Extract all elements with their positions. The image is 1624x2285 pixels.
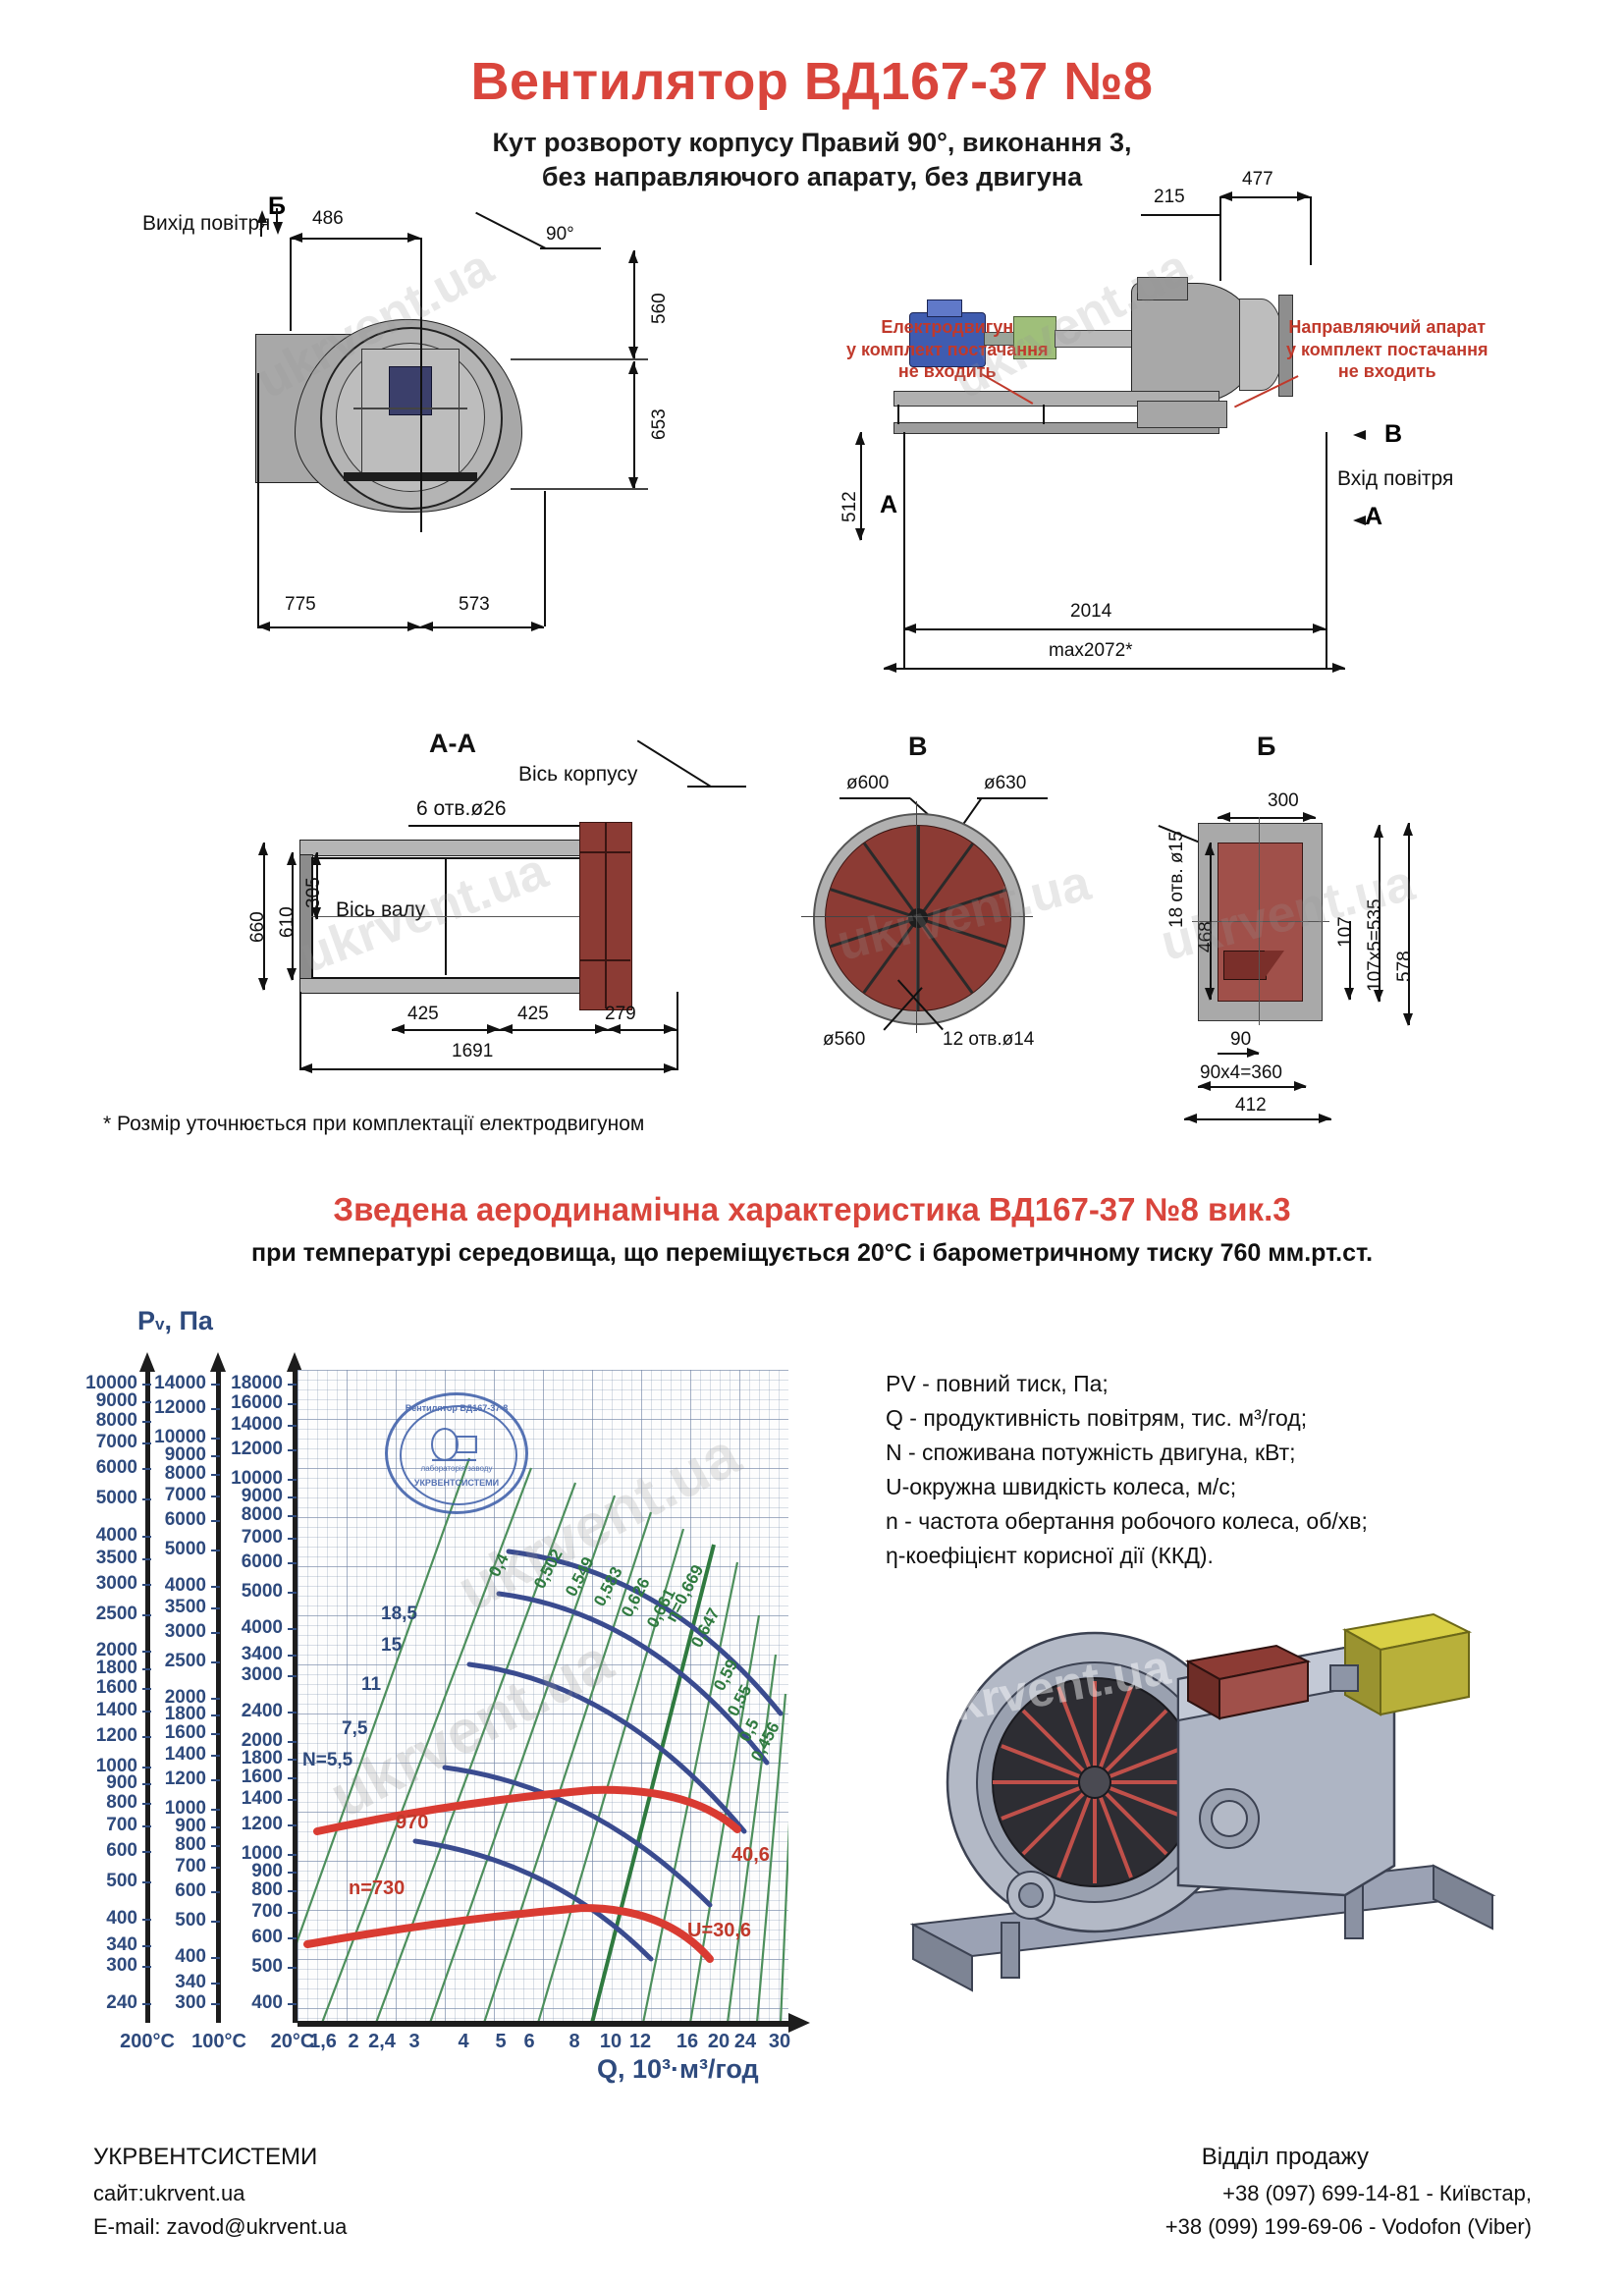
axis-tick-value: 4000 <box>59 1525 137 1547</box>
air-outlet-label: Вихід повітря <box>142 212 270 236</box>
axis-tick-mark <box>211 1698 220 1700</box>
view-name-v: В <box>908 732 928 762</box>
front-view <box>196 290 677 624</box>
stamp-line-2: лабораторія заводу <box>388 1464 525 1473</box>
guide-note-line-3: не входить <box>1286 360 1489 383</box>
dim-486-line <box>290 238 420 240</box>
axis-tick-value: 700 <box>204 1901 283 1923</box>
rpm-label-730: n=730 <box>349 1877 405 1900</box>
shaft-axis-label: Вісь валу <box>336 898 425 922</box>
axis-tick-value: 1400 <box>128 1744 206 1766</box>
motor-not-included-note: Електродвигун у комплект постачання не в… <box>846 316 1049 383</box>
axis-tick-mark <box>288 1777 297 1779</box>
axis-tick-value: 600 <box>59 1840 137 1862</box>
axis-tick-value: 7000 <box>59 1432 137 1453</box>
body-axis-label: Вісь корпусу <box>518 763 637 787</box>
axis-tick-value: 12000 <box>204 1439 283 1460</box>
view-name-aa: А-А <box>429 729 476 759</box>
view-name-b: Б <box>1257 732 1275 762</box>
footer-company: УКРВЕНТСИСТЕМИ <box>93 2141 317 2175</box>
axis-tick-value: 4000 <box>204 1617 283 1639</box>
axis-tick-value: 300 <box>128 1992 206 2014</box>
axis-tick-mark <box>288 1872 297 1874</box>
axis-tick-value: 5000 <box>204 1581 283 1603</box>
axis-tick-value: 9000 <box>59 1390 137 1412</box>
xtick-30: 30 <box>766 2031 793 2053</box>
axis-tick-value: 1600 <box>128 1722 206 1744</box>
dim-300: 300 <box>1268 790 1299 812</box>
fan-3d-svg <box>884 1571 1512 2013</box>
impeller-centerline-h <box>801 916 1033 917</box>
side-view <box>874 265 1365 589</box>
chart-x-axis <box>298 2021 788 2027</box>
axis-tick-value: 8000 <box>128 1463 206 1485</box>
legend-item: Q - продуктивність повітрям, тис. м³/год… <box>886 1401 1368 1436</box>
axis-tick-mark <box>288 1655 297 1657</box>
axis-tick-value: 8000 <box>204 1504 283 1526</box>
dim-360: 90х4=360 <box>1200 1062 1282 1084</box>
axis-ticks-20c: 1800016000140001200010000900080007000600… <box>220 1370 289 2023</box>
rpm-label-970: 970 <box>396 1812 428 1834</box>
dim-1691: 1691 <box>452 1041 493 1062</box>
axis-tick-value: 16000 <box>204 1392 283 1414</box>
xtick-3: 3 <box>403 2031 426 2053</box>
axis-tick-mark <box>288 1449 297 1451</box>
axis-tick-mark <box>288 1496 297 1498</box>
dim-d600: ø600 <box>846 773 889 794</box>
legend-item: N - споживана потужність двигуна, кВт; <box>886 1436 1368 1470</box>
axis-tick-value: 1600 <box>59 1677 137 1699</box>
chart-y-axis-label: Pv, Па <box>137 1306 213 1336</box>
dim-775-arrow-l <box>257 622 270 631</box>
impeller-hub <box>908 908 928 928</box>
axis-tick-mark <box>288 1824 297 1826</box>
chart-subtitle: при температурі середовища, що переміщує… <box>0 1239 1624 1268</box>
axis-tick-value: 5000 <box>59 1488 137 1509</box>
axis-tick-value: 2500 <box>59 1604 137 1625</box>
section-mark-v-side: В <box>1384 420 1402 449</box>
impeller-blade <box>830 889 918 919</box>
axis-arrow-20c <box>287 1352 302 1372</box>
xtick-1-6: 1,6 <box>306 2031 340 2053</box>
holes-26-label: 6 отв.ø26 <box>416 797 507 821</box>
axis-tick-mark <box>211 1607 220 1609</box>
chart-title: Зведена аеродинамічна характеристика ВД1… <box>0 1191 1624 1228</box>
axis-tick-value: 3400 <box>204 1644 283 1665</box>
impeller-blade <box>917 826 920 918</box>
xtick-4: 4 <box>452 2031 475 2053</box>
dim-2014: 2014 <box>1070 601 1111 623</box>
dim-425-a: 425 <box>407 1004 439 1025</box>
stamp-line-3: УКРВЕНТСИСТЕМИ <box>388 1478 525 1488</box>
aa-bottom-flange <box>299 977 586 994</box>
axis-tick-mark <box>288 1890 297 1892</box>
xtick-10: 10 <box>597 2031 624 2053</box>
axis-tick-value: 400 <box>128 1946 206 1968</box>
footer-sales-title: Відділ продажу <box>1202 2141 1369 2175</box>
dim-412: 412 <box>1235 1095 1267 1116</box>
axis-tick-value: 340 <box>59 1934 137 1956</box>
air-inlet-label: Вхід повітря <box>1337 467 1453 491</box>
dim-90deg: 90° <box>546 224 574 245</box>
axis-tick-mark <box>288 1912 297 1914</box>
xtick-16: 16 <box>674 2031 701 2053</box>
section-v-arrow <box>1353 430 1366 440</box>
subtitle-line-1: Кут розвороту корпусу Правий 90°, викона… <box>0 126 1624 160</box>
axis-tick-value: 12000 <box>128 1397 206 1419</box>
legend-item: η-коефіцієнт корисної дії (ККД). <box>886 1539 1368 1573</box>
tip-speed-label-40-6: 40,6 <box>731 1844 770 1867</box>
tip-speed-label-30-6: U=30,6 <box>687 1920 751 1942</box>
dim-660: 660 <box>247 911 269 943</box>
dim-486-arrow-right <box>407 233 420 243</box>
dim-468: 468 <box>1196 921 1218 952</box>
legend-item: n - частота обертання робочого колеса, о… <box>886 1504 1368 1539</box>
b-vane-taper <box>1265 951 1284 978</box>
axis-tick-value: 3000 <box>128 1621 206 1643</box>
axis-ticks-100c: 1400012000100009000800070006000500040003… <box>147 1370 212 2023</box>
motor-terminal-box <box>927 299 962 317</box>
dim-486-arrow-left <box>290 233 302 243</box>
subtitle-line-2: без направляючого апарату, без двигуна <box>0 160 1624 194</box>
axis-tick-value: 800 <box>204 1879 283 1901</box>
side-outlet-duct <box>1137 277 1188 300</box>
axis-tick-value: 1200 <box>204 1814 283 1835</box>
dim-573-arrow-r <box>531 622 544 631</box>
axis-arrow-100c <box>210 1352 226 1372</box>
impeller-disc <box>825 825 1011 1011</box>
pedestal <box>1137 401 1227 428</box>
axis-tick-value: 3000 <box>204 1664 283 1686</box>
axis-tick-mark <box>288 2003 297 2005</box>
dim-d630: ø630 <box>984 773 1026 794</box>
axis-tick-mark <box>288 1384 297 1386</box>
n-label-11: 11 <box>361 1674 381 1696</box>
axis-tick-mark <box>288 1967 297 1969</box>
n-label-7-5: 7,5 <box>342 1718 367 1740</box>
impeller-blade <box>918 889 1006 919</box>
xtick-5: 5 <box>489 2031 513 2053</box>
dim-486-ext-r <box>420 238 422 532</box>
axis-tick-mark <box>288 1712 297 1714</box>
axis-tick-value: 6000 <box>204 1551 283 1573</box>
dim-560-arrow-up <box>628 250 638 263</box>
axis-tick-value: 1200 <box>59 1725 137 1747</box>
impeller-blade <box>863 917 919 994</box>
chart-x-axis-arrow <box>788 2013 810 2033</box>
axis-tick-value: 1800 <box>59 1658 137 1679</box>
n-label-15: 15 <box>381 1635 402 1657</box>
footer-phone-2: +38 (099) 199-69-06 - Vodofon (Viber) <box>1165 2211 1532 2243</box>
dim-573: 573 <box>459 594 490 616</box>
axis-tick-mark <box>288 1854 297 1856</box>
xtick-20: 20 <box>705 2031 732 2053</box>
guide-vane-not-included-note: Направляючий апарат у комплект постачанн… <box>1286 316 1489 383</box>
dim-573-arrow-l <box>420 622 433 631</box>
axis-tick-value: 3000 <box>59 1573 137 1595</box>
dim-215: 215 <box>1154 187 1185 208</box>
axis-tick-value: 1400 <box>204 1788 283 1810</box>
fan-base-plate <box>344 472 477 481</box>
dim-610: 610 <box>277 906 298 938</box>
dim-578: 578 <box>1394 951 1416 982</box>
axis-tick-value: 340 <box>128 1972 206 1993</box>
impeller-blade <box>918 917 1006 948</box>
quality-stamp: Вентилятор ВД167-37-8 лабораторія заводу… <box>385 1392 528 1514</box>
impeller-blade <box>917 917 973 994</box>
axis-tick-value: 800 <box>59 1792 137 1814</box>
axis-tick-value: 400 <box>59 1908 137 1930</box>
axis-tick-value: 700 <box>128 1856 206 1877</box>
axis-tick-value: 1200 <box>128 1768 206 1790</box>
axis-tick-value: 8000 <box>59 1410 137 1432</box>
section-b-arrow-down <box>273 222 283 235</box>
axis-tick-value: 600 <box>204 1927 283 1948</box>
axis-tick-value: 14000 <box>128 1373 206 1394</box>
motor-note-line-1: Електродвигун <box>846 316 1049 339</box>
n-label-5-5: N=5,5 <box>302 1750 352 1771</box>
axis-tick-mark <box>288 1628 297 1630</box>
dim-max2072: max2072* <box>1049 640 1133 662</box>
dim-477: 477 <box>1242 169 1273 190</box>
footer-site: сайт:ukrvent.ua <box>93 2178 244 2209</box>
dim-486: 486 <box>312 208 344 230</box>
dim-486-ext-l <box>290 238 292 331</box>
axis-tick-mark <box>288 1562 297 1564</box>
dim-653-arrow-up <box>628 361 638 374</box>
page-subtitle: Кут розвороту корпусу Правий 90°, викона… <box>0 126 1624 194</box>
dim-107: 107 <box>1335 916 1357 948</box>
section-mark-a-bottom: A <box>1365 503 1382 531</box>
axis-tick-value: 7000 <box>204 1527 283 1549</box>
guide-note-line-2: у комплект постачання <box>1286 339 1489 361</box>
xtick-2: 2 <box>342 2031 365 2053</box>
dim-560: 560 <box>649 293 671 324</box>
axis-tick-value: 900 <box>59 1772 137 1794</box>
axis-tick-mark <box>288 1741 297 1743</box>
axis-tick-mark <box>288 1759 297 1761</box>
axis-tick-value: 300 <box>59 1955 137 1977</box>
axis-tick-mark <box>288 1538 297 1540</box>
axis-tick-value: 3500 <box>59 1548 137 1569</box>
axis-tick-value: 1400 <box>59 1700 137 1721</box>
motor-note-line-3: не входить <box>846 360 1049 383</box>
impeller-blade <box>917 918 920 1010</box>
footer-phone-1: +38 (097) 699-14-81 - Київстар, <box>1222 2178 1532 2209</box>
section-a-arrow <box>1353 516 1366 525</box>
axis-tick-value: 700 <box>59 1815 137 1836</box>
axis-tick-value: 800 <box>128 1834 206 1856</box>
legend-item: U-окружна швидкість колеса, м/с; <box>886 1470 1368 1504</box>
fan-3d-render: ukrvent.ua <box>884 1571 1512 2013</box>
dim-305: 305 <box>303 877 325 908</box>
chart-x-axis-label: Q, 10³·м³/год <box>597 2054 759 2085</box>
section-mark-a-top: A <box>880 491 897 519</box>
xtick-8: 8 <box>563 2031 586 2053</box>
axis-tick-mark <box>288 1425 297 1427</box>
dim-775-arrow-r <box>407 622 420 631</box>
axis-tick-value: 3500 <box>128 1597 206 1618</box>
axis-tick-value: 6000 <box>128 1509 206 1531</box>
footer-email: E-mail: zavod@ukrvent.ua <box>93 2211 347 2243</box>
axis-tick-value: 14000 <box>204 1414 283 1436</box>
dim-775: 775 <box>285 594 316 616</box>
aa-top-flange <box>299 840 586 856</box>
dim-535: 107х5=535 <box>1365 898 1386 992</box>
axis-tick-value: 6000 <box>59 1457 137 1479</box>
axis-tick-value: 5000 <box>128 1539 206 1560</box>
dim-653: 653 <box>649 408 671 440</box>
axis-tick-value: 2400 <box>204 1701 283 1722</box>
dim-425-b: 425 <box>517 1004 549 1025</box>
axis-tick-mark <box>211 1983 220 1985</box>
xtick-2-4: 2,4 <box>365 2031 399 2053</box>
axis-tick-mark <box>288 1479 297 1481</box>
impeller-centerline-v <box>916 801 917 1033</box>
axis-tick-value: 240 <box>59 1992 137 2014</box>
axis-tick-value: 500 <box>128 1910 206 1931</box>
dim-279: 279 <box>605 1004 636 1025</box>
xtick-6: 6 <box>517 2031 541 2053</box>
section-b-arrow-up <box>257 210 267 223</box>
dim-d560: ø560 <box>823 1029 865 1051</box>
dim-18-holes: 18 отв. ø15 <box>1166 831 1188 928</box>
dim-12-holes: 12 отв.ø14 <box>943 1029 1034 1051</box>
axis-tick-value: 2500 <box>128 1651 206 1672</box>
motor-note-line-2: у комплект постачання <box>846 339 1049 361</box>
axis-tick-mark <box>288 1515 297 1517</box>
dim-512: 512 <box>839 491 861 522</box>
guide-note-line-1: Направляючий апарат <box>1286 316 1489 339</box>
axis-tick-value: 4000 <box>128 1575 206 1597</box>
axis-tick-mark <box>288 1675 297 1677</box>
xtick-12: 12 <box>626 2031 654 2053</box>
chart-legend: PV - повний тиск, Па; Q - продуктивність… <box>886 1367 1368 1573</box>
axis-tick-mark <box>288 1937 297 1939</box>
axis-tick-value: 7000 <box>128 1485 206 1506</box>
axis-tick-value: 600 <box>128 1880 206 1902</box>
axis-tick-value: 500 <box>59 1871 137 1892</box>
n-label-18-5: 18,5 <box>381 1604 417 1625</box>
axis-arrow-200c <box>139 1352 155 1372</box>
axis-tick-mark <box>288 1592 297 1594</box>
xtick-24: 24 <box>731 2031 759 2053</box>
page-title: Вентилятор ВД167-37 №8 <box>0 51 1624 112</box>
axis-tick-mark <box>288 1403 297 1405</box>
stamp-line-1: Вентилятор ВД167-37-8 <box>388 1403 525 1413</box>
axis-tick-value: 400 <box>204 1992 283 2014</box>
b-internal-vane <box>1223 951 1267 980</box>
axis-tick-value: 500 <box>204 1956 283 1978</box>
legend-item: PV - повний тиск, Па; <box>886 1367 1368 1401</box>
axis-tick-value: 1600 <box>204 1767 283 1788</box>
axis-tick-mark <box>288 1799 297 1801</box>
footnote-asterisk: * Розмір уточнюється при комплектації ел… <box>103 1113 644 1136</box>
fan-frame-bar <box>353 408 467 409</box>
